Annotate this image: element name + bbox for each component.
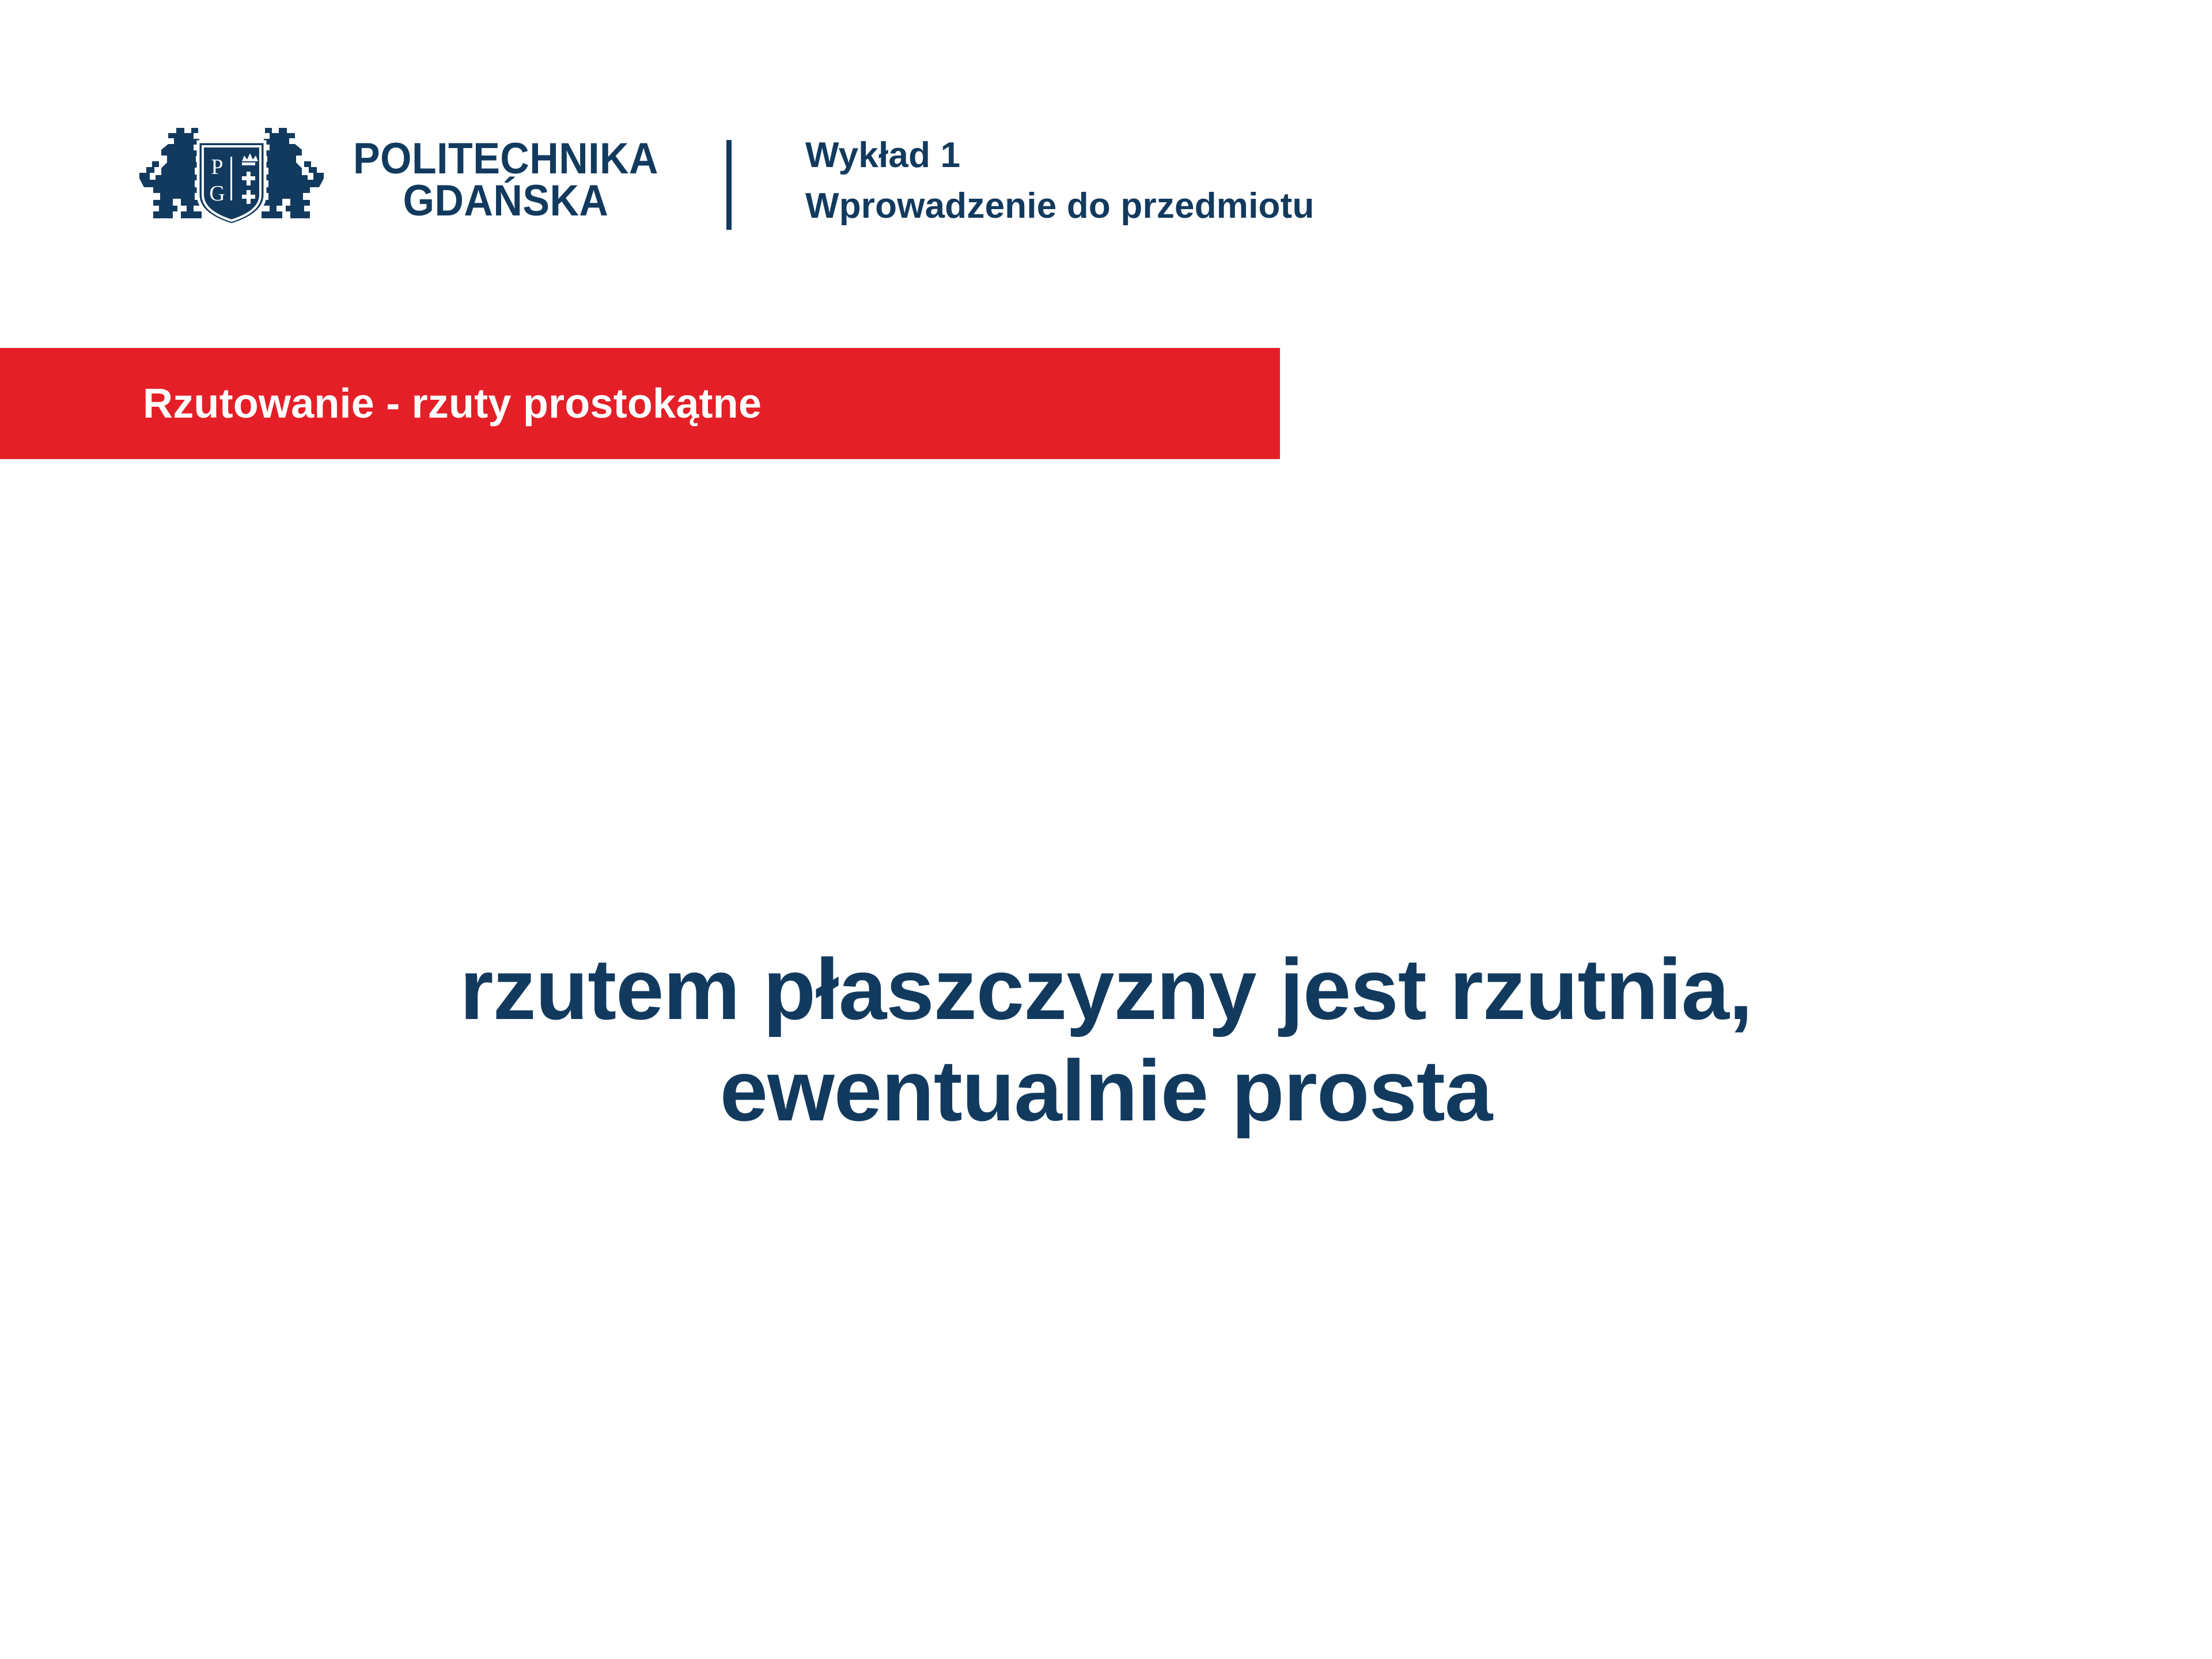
slide-body: rzutem płaszczyzny jest rzutnia, ewentua… — [0, 939, 2212, 1141]
wordmark-line-2: GDAŃSKA — [353, 180, 658, 222]
svg-text:G: G — [209, 181, 225, 206]
slide-header: P G POLITECHNIKA GDAŃSKA — [0, 0, 2212, 323]
body-line-2: ewentualnie prosta — [0, 1040, 2212, 1142]
pg-crest-icon: P G — [134, 126, 329, 235]
section-banner: Rzutowanie - rzuty prostokątne — [0, 348, 1280, 459]
university-wordmark: POLITECHNIKA GDAŃSKA — [340, 138, 672, 222]
section-banner-title: Rzutowanie - rzuty prostokątne — [143, 380, 762, 427]
wordmark-line-1: POLITECHNIKA — [353, 138, 658, 180]
header-divider — [726, 140, 732, 230]
lecture-subtitle: Wykład 1 Wprowadzenie do przedmiotu — [805, 130, 1315, 232]
lecture-number: Wykład 1 — [805, 130, 1315, 181]
slide-canvas: P G POLITECHNIKA GDAŃSKA — [0, 0, 2212, 1659]
lecture-topic: Wprowadzenie do przedmiotu — [805, 181, 1315, 232]
svg-text:P: P — [211, 155, 223, 179]
body-line-1: rzutem płaszczyzny jest rzutnia, — [0, 939, 2212, 1040]
university-logo: P G POLITECHNIKA GDAŃSKA — [134, 126, 672, 235]
